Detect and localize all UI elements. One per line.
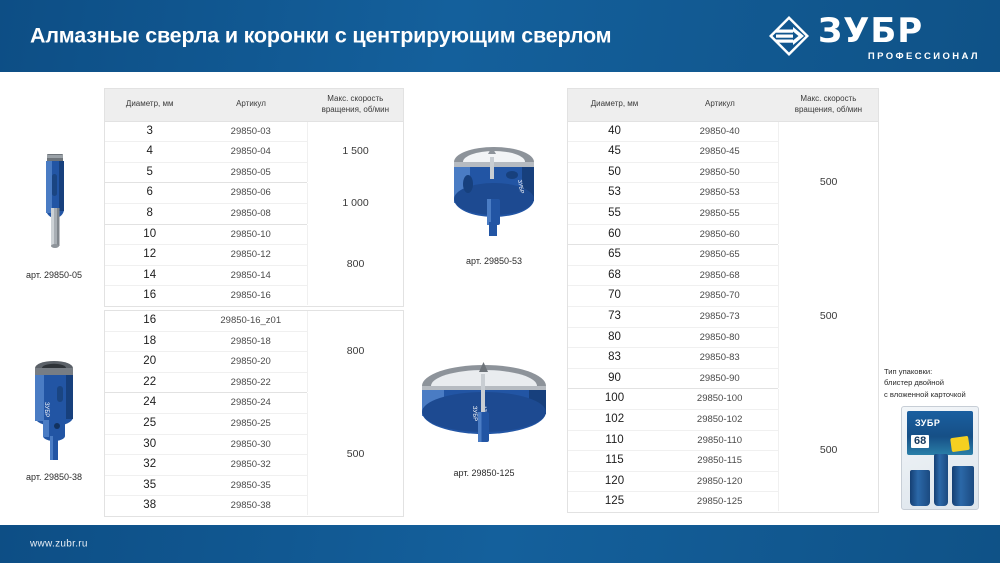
cell-article: 29850-20 <box>194 352 307 373</box>
diamond-hole-saw-125-icon: ЗУБР 125 мм <box>409 356 559 464</box>
cell-article: 29850-83 <box>661 348 779 369</box>
cell-diameter: 68 <box>568 265 661 286</box>
cell-article: 29850-55 <box>661 203 779 224</box>
cell-diameter: 25 <box>105 413 194 434</box>
figure-caption: арт. 29850-05 <box>8 270 100 280</box>
cell-article: 29850-18 <box>194 331 307 352</box>
table-body: 329850-031 500429850-04529850-05629850-0… <box>105 121 403 306</box>
cell-diameter: 60 <box>568 224 661 245</box>
cell-diameter: 6 <box>105 183 194 204</box>
cell-article: 29850-60 <box>661 224 779 245</box>
cell-diameter: 45 <box>568 142 661 163</box>
page-header: Алмазные сверла и коронки с центрирующим… <box>0 0 1000 72</box>
cell-diameter: 90 <box>568 368 661 389</box>
cell-diameter: 83 <box>568 348 661 369</box>
cell-article: 29850-102 <box>661 409 779 430</box>
figure-caption: арт. 29850-53 <box>424 256 564 266</box>
table: Диаметр, мм Артикул Макс. скорость враще… <box>568 89 878 512</box>
table-body: 4029850-405004529850-455029850-505329850… <box>568 121 878 512</box>
cell-article: 29850-115 <box>661 451 779 472</box>
product-figure-core-53: ЗУБР арт. 29850-53 <box>424 132 564 266</box>
cell-article: 29850-16_z01 <box>194 311 307 331</box>
cell-speed: 1 000 <box>308 183 403 224</box>
cell-diameter: 18 <box>105 331 194 352</box>
col-diameter: Диаметр, мм <box>105 89 194 121</box>
cell-article: 29850-35 <box>194 475 307 496</box>
cell-article: 29850-05 <box>194 162 307 183</box>
blister-bit-mid <box>934 454 948 506</box>
table: 1629850-16_z018001829850-182029850-20222… <box>105 311 403 516</box>
blister-card: ЗУБР 68 <box>907 411 973 455</box>
table-head: Диаметр, мм Артикул Макс. скорость враще… <box>105 89 403 121</box>
cell-diameter: 102 <box>568 409 661 430</box>
cell-article: 29850-50 <box>661 162 779 183</box>
cell-diameter: 100 <box>568 389 661 410</box>
zubr-diamond-icon <box>768 15 810 57</box>
cell-article: 29850-08 <box>194 203 307 224</box>
cell-diameter: 53 <box>568 183 661 204</box>
blister-bit-left <box>910 470 930 506</box>
cell-diameter: 38 <box>105 496 194 516</box>
packaging-line-2: блистер двойной <box>884 377 996 388</box>
cell-article: 29850-06 <box>194 183 307 204</box>
spec-table-cores-40-125: Диаметр, мм Артикул Макс. скорость враще… <box>567 88 879 513</box>
col-speed-line2: вращения, об/мин <box>322 105 389 114</box>
spec-table-drills-3-16: Диаметр, мм Артикул Макс. скорость враще… <box>104 88 404 307</box>
logo-tagline: ПРОФЕССИОНАЛ <box>868 51 980 62</box>
packaging-line-3: с вложенной карточкой <box>884 389 996 400</box>
cell-diameter: 35 <box>105 475 194 496</box>
col-article: Артикул <box>194 89 307 121</box>
cell-article: 29850-40 <box>661 121 779 142</box>
cell-article: 29850-80 <box>661 327 779 348</box>
cell-article: 29850-125 <box>661 492 779 512</box>
blister-contents <box>908 450 972 506</box>
cell-diameter: 14 <box>105 265 194 286</box>
col-diameter: Диаметр, мм <box>568 89 661 121</box>
cell-diameter: 24 <box>105 393 194 414</box>
cell-diameter: 3 <box>105 121 194 142</box>
cell-diameter: 4 <box>105 142 194 163</box>
cell-article: 29850-73 <box>661 306 779 327</box>
cell-article: 29850-120 <box>661 471 779 492</box>
diamond-hole-saw-53-icon: ЗУБР <box>434 132 554 252</box>
table-header-row: Диаметр, мм Артикул Макс. скорость враще… <box>105 89 403 121</box>
diamond-core-bit-small-icon: ЗУБР <box>21 356 87 468</box>
cell-diameter: 120 <box>568 471 661 492</box>
cell-article: 29850-03 <box>194 121 307 142</box>
packaging-text: Тип упаковки: блистер двойной с вложенно… <box>884 366 996 400</box>
svg-text:ЗУБР: ЗУБР <box>471 406 478 422</box>
blister-pack-image: ЗУБР 68 <box>901 406 979 510</box>
packaging-line-1: Тип упаковки: <box>884 366 996 377</box>
cell-diameter: 73 <box>568 306 661 327</box>
cell-speed: 500 <box>308 393 403 516</box>
cell-article: 29850-90 <box>661 368 779 389</box>
diamond-drill-bit-icon <box>26 148 82 266</box>
blister-bit-right <box>952 466 974 506</box>
cell-diameter: 10 <box>105 224 194 245</box>
packaging-info: Тип упаковки: блистер двойной с вложенно… <box>884 366 996 510</box>
cell-diameter: 32 <box>105 455 194 476</box>
spec-table-drills-16-38: 1629850-16_z018001829850-182029850-20222… <box>104 310 404 517</box>
cell-article: 29850-100 <box>661 389 779 410</box>
page-footer: www.zubr.ru <box>0 525 1000 563</box>
figure-caption: арт. 29850-38 <box>8 472 100 482</box>
product-figure-drill-05: арт. 29850-05 <box>8 148 100 280</box>
cell-article: 29850-22 <box>194 372 307 393</box>
cell-diameter: 40 <box>568 121 661 142</box>
cell-article: 29850-110 <box>661 430 779 451</box>
cell-article: 29850-16 <box>194 286 307 306</box>
table-header-row: Диаметр, мм Артикул Макс. скорость враще… <box>568 89 878 121</box>
table: Диаметр, мм Артикул Макс. скорость враще… <box>105 89 403 306</box>
cell-speed: 500 <box>779 389 878 512</box>
cell-diameter: 12 <box>105 245 194 266</box>
table-row: 6529850-65500 <box>568 245 878 266</box>
cell-speed: 500 <box>779 245 878 389</box>
col-speed: Макс. скорость вращения, об/мин <box>779 89 878 121</box>
figure-caption: арт. 29850-125 <box>404 468 564 478</box>
cell-diameter: 20 <box>105 352 194 373</box>
cell-article: 29850-25 <box>194 413 307 434</box>
brand-logo: ЗУБР ПРОФЕССИОНАЛ <box>762 13 982 65</box>
product-spec-page: Алмазные сверла и коронки с центрирующим… <box>0 0 1000 563</box>
cell-diameter: 125 <box>568 492 661 512</box>
cell-speed: 800 <box>308 311 403 393</box>
cell-speed: 500 <box>779 121 878 245</box>
cell-diameter: 55 <box>568 203 661 224</box>
col-speed: Макс. скорость вращения, об/мин <box>308 89 403 121</box>
col-speed-line1: Макс. скорость <box>327 94 383 103</box>
cell-diameter: 80 <box>568 327 661 348</box>
col-article: Артикул <box>661 89 779 121</box>
product-figure-drill-38: ЗУБР арт. 29850-38 <box>8 356 100 482</box>
cell-diameter: 65 <box>568 245 661 266</box>
cell-article: 29850-10 <box>194 224 307 245</box>
cell-article: 29850-12 <box>194 245 307 266</box>
cell-speed: 1 500 <box>308 121 403 183</box>
cell-diameter: 5 <box>105 162 194 183</box>
cell-article: 29850-65 <box>661 245 779 266</box>
cell-speed: 800 <box>308 224 403 306</box>
table-row: 329850-031 500 <box>105 121 403 142</box>
table-row: 2429850-24500 <box>105 393 403 414</box>
col-speed-line1: Макс. скорость <box>800 94 856 103</box>
cell-diameter: 115 <box>568 451 661 472</box>
cell-article: 29850-32 <box>194 455 307 476</box>
cell-diameter: 22 <box>105 372 194 393</box>
page-title: Алмазные сверла и коронки с центрирующим… <box>30 24 611 49</box>
cell-diameter: 16 <box>105 286 194 306</box>
table-head: Диаметр, мм Артикул Макс. скорость враще… <box>568 89 878 121</box>
cell-article: 29850-45 <box>661 142 779 163</box>
cell-article: 29850-70 <box>661 286 779 307</box>
cell-diameter: 110 <box>568 430 661 451</box>
blister-logo: ЗУБР <box>915 418 940 428</box>
svg-text:ЗУБР: ЗУБР <box>43 402 49 417</box>
blister-size-badge: 68 <box>911 435 929 448</box>
cell-article: 29850-04 <box>194 142 307 163</box>
cell-diameter: 8 <box>105 203 194 224</box>
col-speed-line2: вращения, об/мин <box>795 105 862 114</box>
cell-article: 29850-53 <box>661 183 779 204</box>
table-row: 1629850-16_z01800 <box>105 311 403 331</box>
table-row: 1029850-10800 <box>105 224 403 245</box>
cell-diameter: 70 <box>568 286 661 307</box>
cell-diameter: 30 <box>105 434 194 455</box>
cell-article: 29850-68 <box>661 265 779 286</box>
cell-article: 29850-30 <box>194 434 307 455</box>
product-figure-core-125: ЗУБР 125 мм арт. 29850-125 <box>404 356 564 478</box>
table-row: 4029850-40500 <box>568 121 878 142</box>
cell-article: 29850-14 <box>194 265 307 286</box>
table-body: 1629850-16_z018001829850-182029850-20222… <box>105 311 403 516</box>
logo-wordmark: ЗУБР <box>818 11 923 51</box>
cell-diameter: 16 <box>105 311 194 331</box>
table-row: 629850-061 000 <box>105 183 403 204</box>
table-row: 10029850-100500 <box>568 389 878 410</box>
cell-article: 29850-24 <box>194 393 307 414</box>
footer-website-url[interactable]: www.zubr.ru <box>30 539 88 550</box>
cell-article: 29850-38 <box>194 496 307 516</box>
cell-diameter: 50 <box>568 162 661 183</box>
